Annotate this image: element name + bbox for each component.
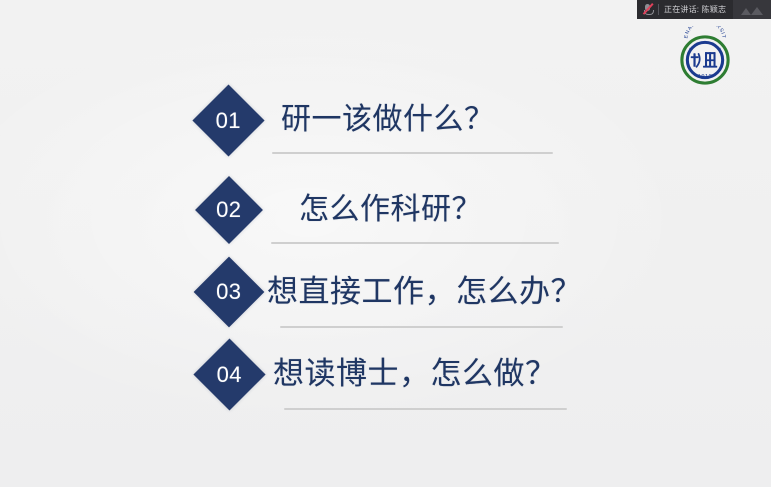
item-underline	[271, 242, 559, 244]
item-title: 研一该做什么？	[281, 104, 495, 136]
item-underline	[280, 326, 563, 328]
participant-video-thumbnail[interactable]	[733, 0, 771, 19]
university-crest-icon: HENAN UNIVERSITY 1912	[671, 26, 739, 94]
microphone-muted-icon[interactable]	[642, 3, 653, 16]
svg-text:1912: 1912	[698, 74, 712, 80]
item-title: 想读博士，怎么做？	[273, 358, 557, 391]
bar-divider	[658, 4, 659, 15]
henan-university-logo: HENAN UNIVERSITY 1912	[671, 26, 739, 94]
item-underline	[284, 408, 567, 410]
item-number-badge: 01	[192, 84, 264, 156]
item-title: 想直接工作，怎么办？	[267, 276, 582, 309]
item-number-badge: 03	[194, 257, 265, 328]
agenda-item-3: 03 想直接工作，怎么办？	[0, 258, 771, 338]
conference-speaker-bar[interactable]: 正在讲话: 陈颖志	[637, 0, 771, 19]
item-number-badge: 04	[193, 338, 265, 410]
item-title: 怎么作科研？	[299, 194, 482, 226]
item-number: 03	[216, 281, 241, 303]
mountain-placeholder-icon	[742, 5, 762, 15]
item-number: 01	[216, 109, 241, 131]
agenda-item-4: 04 想读博士，怎么做？	[0, 340, 771, 420]
item-number-badge: 02	[195, 176, 263, 244]
item-number: 02	[216, 199, 241, 221]
agenda-item-1: 01 研一该做什么？	[0, 86, 771, 166]
agenda-item-2: 02 怎么作科研？	[0, 176, 771, 256]
item-number: 04	[217, 363, 242, 385]
presentation-slide: 正在讲话: 陈颖志 HENAN UNIVERSITY	[0, 0, 771, 487]
item-underline	[272, 152, 553, 154]
